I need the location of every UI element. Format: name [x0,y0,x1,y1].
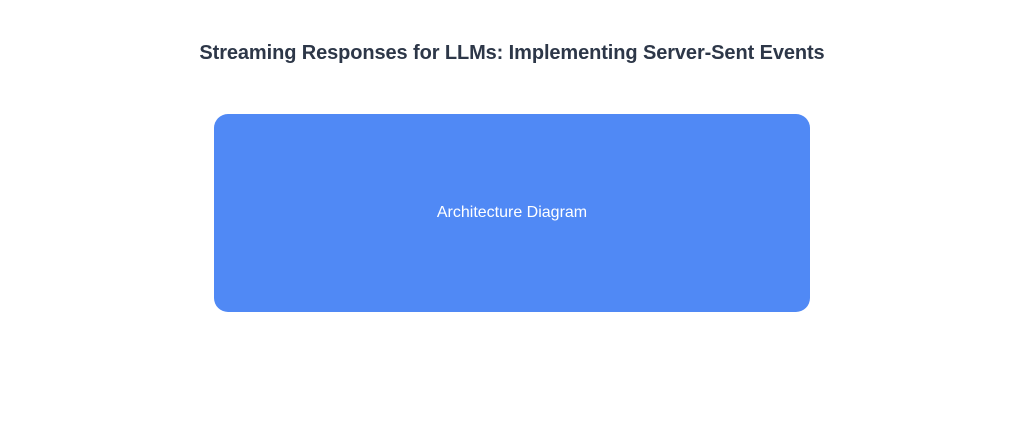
architecture-diagram-label: Architecture Diagram [437,203,587,223]
page-title: Streaming Responses for LLMs: Implementi… [0,40,1024,66]
slide-canvas: Streaming Responses for LLMs: Implementi… [0,0,1024,429]
architecture-diagram-panel[interactable]: Architecture Diagram [214,114,810,312]
